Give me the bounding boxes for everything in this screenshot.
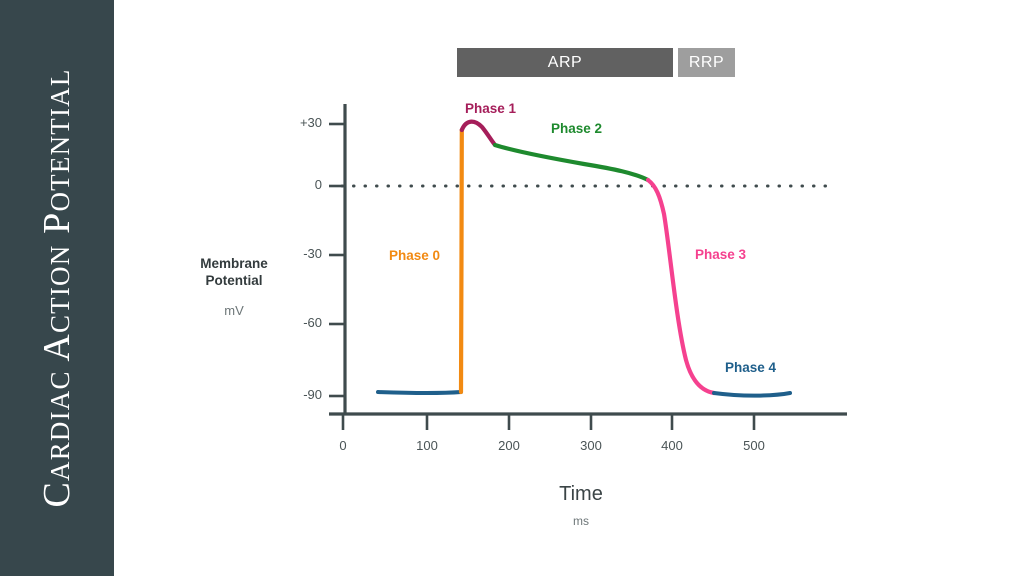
y-axis-title-line1: Membrane <box>200 256 268 271</box>
x-tick-label-500: 500 <box>734 438 774 453</box>
phase-2-label: Phase 2 <box>551 121 602 136</box>
x-tick-label-0: 0 <box>323 438 363 453</box>
phase-4-label: Phase 4 <box>725 360 776 375</box>
y-tick-label-30-pos: +30 <box>282 115 322 130</box>
phase-0-curve <box>461 130 462 392</box>
phase-0-label: Phase 0 <box>389 248 440 263</box>
y-axis-title-line2: Potential <box>205 273 262 288</box>
phase-3-curve <box>648 180 714 393</box>
page-title: Cardiac Action Potential <box>35 68 79 507</box>
y-axis-title: Membrane Potential <box>174 256 294 290</box>
action-potential-chart: +30 0 -30 -60 -90 0 100 200 300 400 500 … <box>114 0 1024 576</box>
phase-1-curve <box>462 122 495 145</box>
y-tick-label-0: 0 <box>282 177 322 192</box>
x-tick-label-100: 100 <box>407 438 447 453</box>
x-tick-label-400: 400 <box>652 438 692 453</box>
x-tick-label-300: 300 <box>571 438 611 453</box>
y-axis-ticks <box>329 124 345 396</box>
chart-stage: ARP RRP <box>114 0 1024 576</box>
phase-1-label: Phase 1 <box>465 101 516 116</box>
phase-4-resting-curve <box>378 392 461 393</box>
y-tick-label-90-neg: -90 <box>282 387 322 402</box>
x-axis-ticks <box>343 414 754 430</box>
x-axis-unit: ms <box>521 514 641 528</box>
x-axis-title: Time <box>521 483 641 506</box>
sidebar: Cardiac Action Potential <box>0 0 114 576</box>
phase-3-label: Phase 3 <box>695 247 746 262</box>
y-axis-unit: mV <box>174 303 294 318</box>
x-tick-label-200: 200 <box>489 438 529 453</box>
phase-4-recovery-curve <box>714 393 790 396</box>
phase-2-curve <box>495 145 648 180</box>
